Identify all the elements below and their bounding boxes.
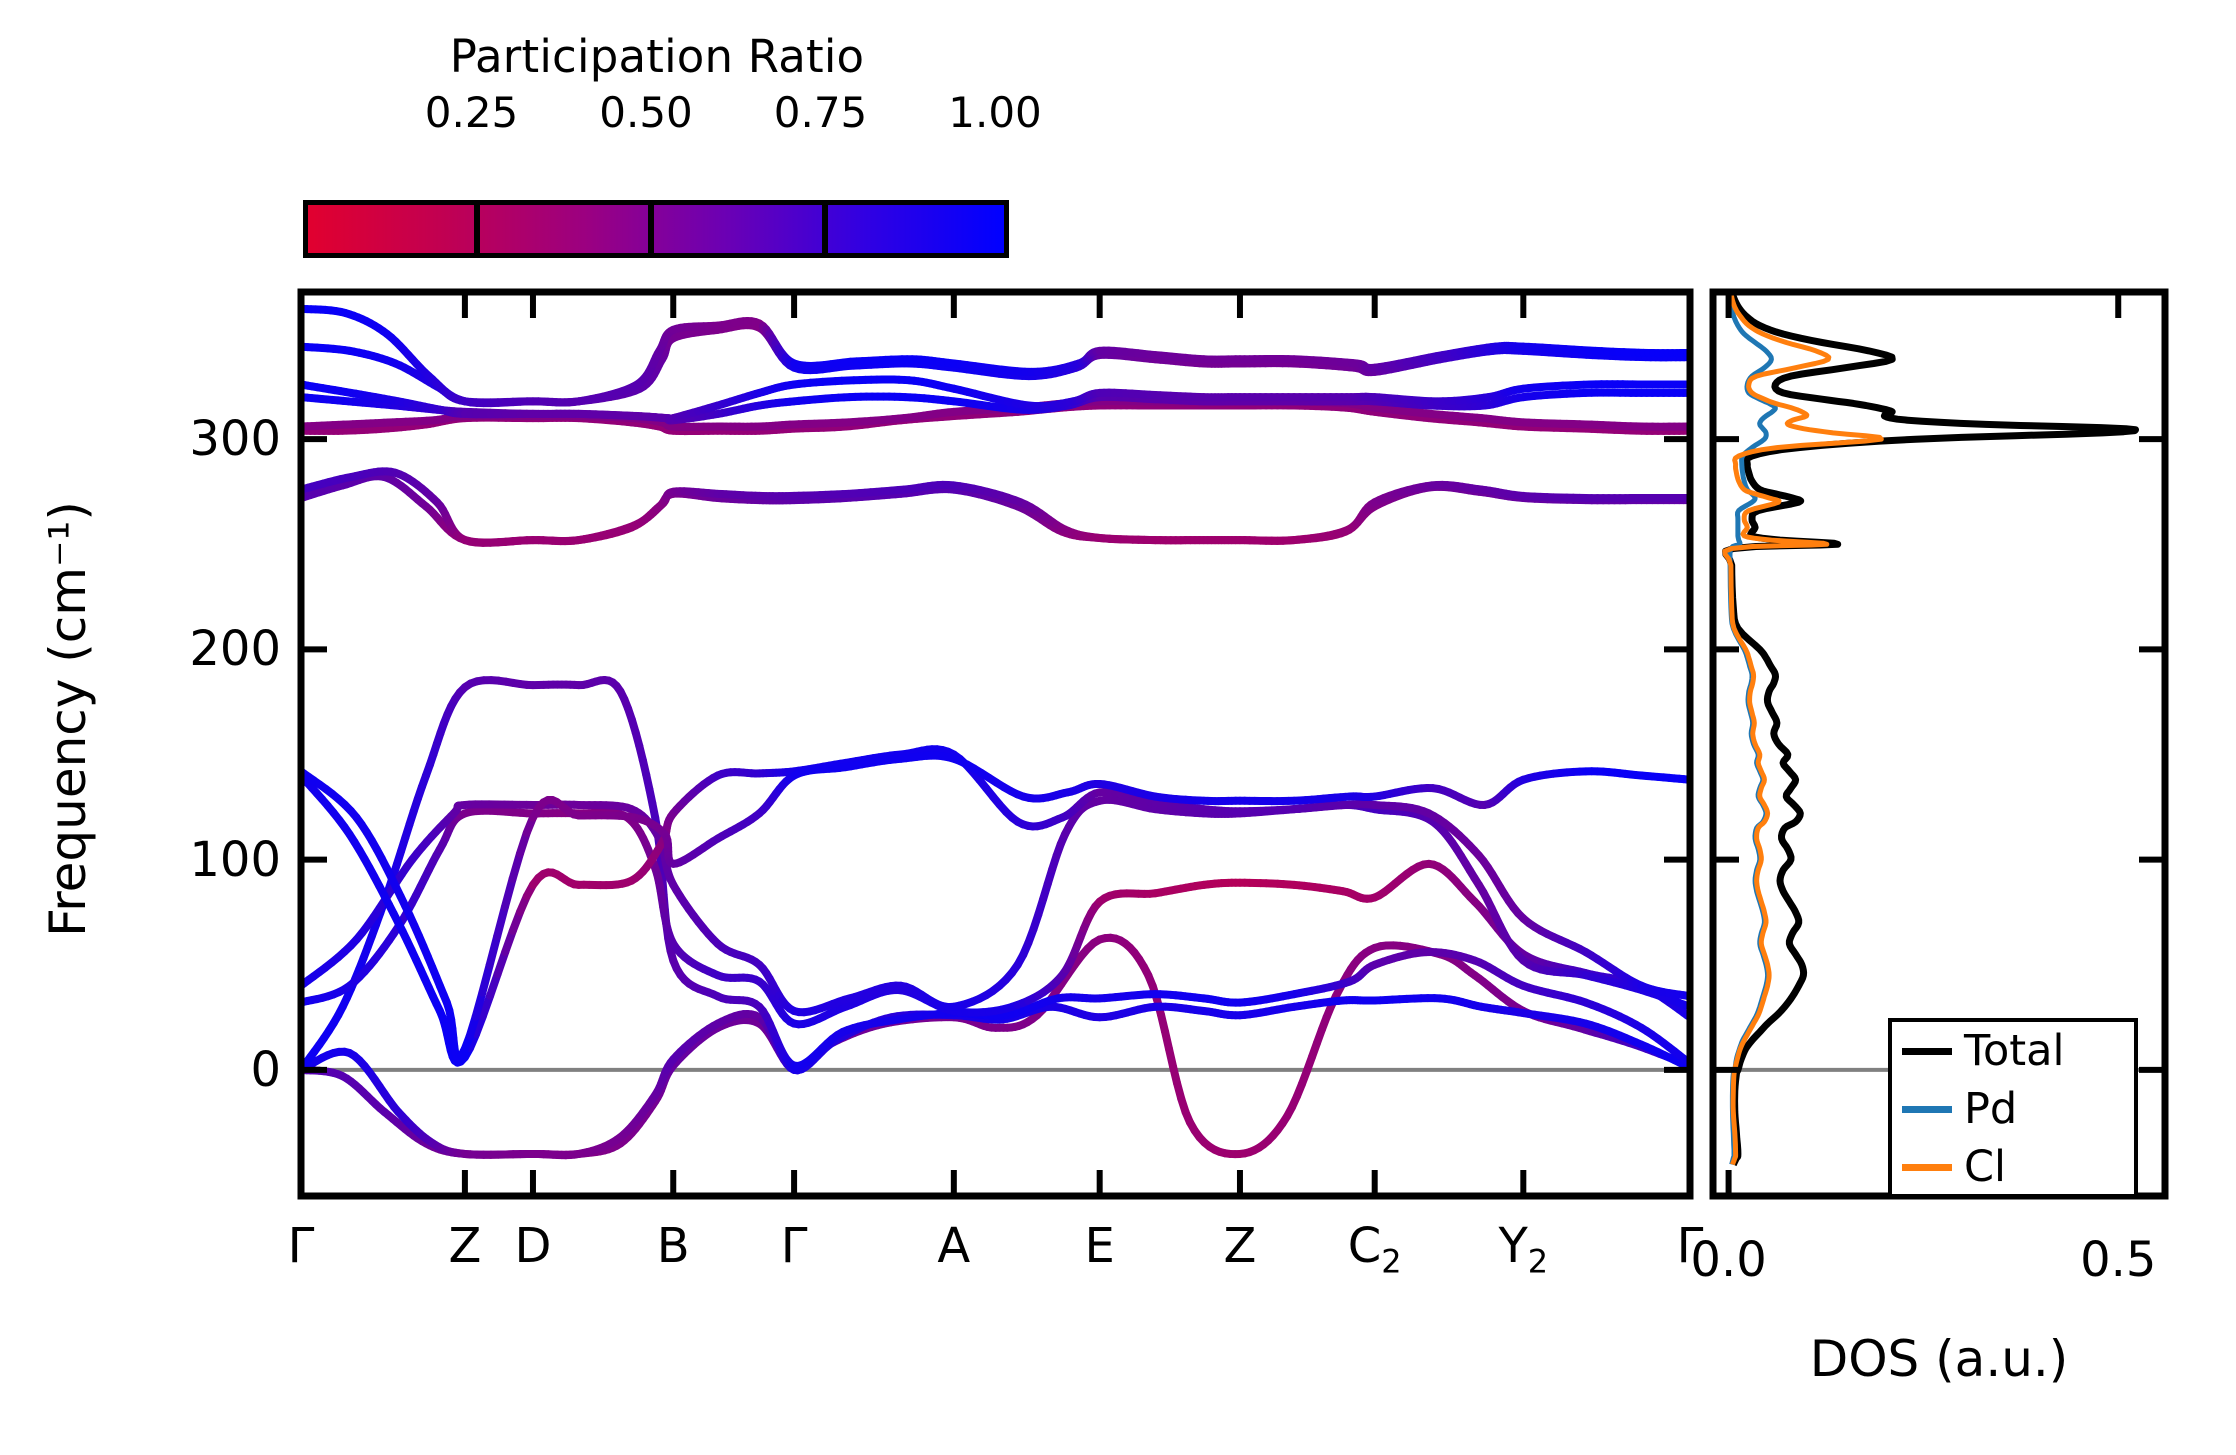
- phonon-band-curves: [301, 309, 1690, 1155]
- legend-label-total: Total: [1964, 1030, 2064, 1073]
- dos-x-tick-label-0: 0.0: [1690, 1232, 1766, 1288]
- band-panel-frame: [301, 292, 1690, 1196]
- legend-label-pd: Pd: [1964, 1088, 2017, 1131]
- dos-curve-cl: [1725, 292, 1882, 1165]
- axis-tick-marks: [301, 292, 2165, 1196]
- legend-entry: Total: [1902, 1026, 2064, 1076]
- dos-legend: Total Pd Cl: [1888, 1018, 2138, 1198]
- legend-swatch-pd: [1902, 1106, 1952, 1113]
- legend-entry: Pd: [1902, 1084, 2017, 1134]
- legend-entry: Cl: [1902, 1142, 2006, 1192]
- legend-label-cl: Cl: [1964, 1146, 2006, 1189]
- legend-swatch-total: [1902, 1048, 1952, 1055]
- figure-root: Participation Ratio 0.250.500.751.00 Fre…: [0, 0, 2236, 1455]
- dos-x-axis-label: DOS (a.u.): [1713, 1330, 2165, 1388]
- legend-swatch-cl: [1902, 1164, 1952, 1171]
- plot-canvas: [0, 0, 2236, 1455]
- dos-x-tick-label-1: 0.5: [2080, 1232, 2156, 1288]
